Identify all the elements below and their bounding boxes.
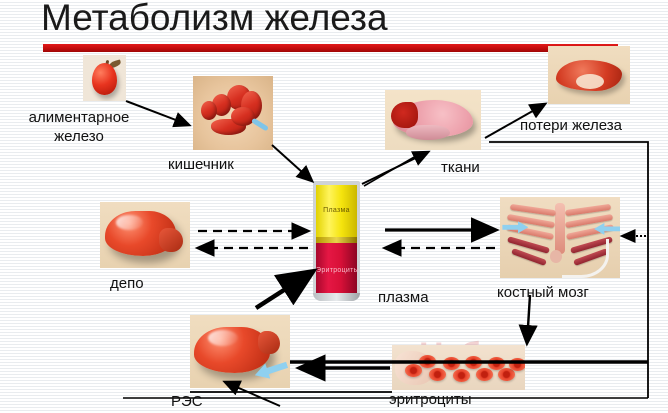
label-alimentary-iron-line1: алиментарное (29, 109, 130, 126)
red-blood-cell (476, 368, 493, 381)
tube-erythrocyte-layer: Эритроциты (316, 243, 357, 295)
red-blood-cell (419, 355, 436, 368)
label-res: РЭС (171, 392, 203, 411)
brain-illustration (385, 90, 481, 150)
label-alimentary-iron: алиментарное железо (14, 108, 144, 146)
res-gloss-icon (208, 330, 238, 346)
intestine-loop (231, 107, 255, 126)
arrow-plasma-to-tissues (362, 152, 428, 184)
spleen-liver-image (190, 315, 290, 388)
xiphoid-icon (550, 250, 562, 263)
red-blood-cell (429, 368, 446, 381)
tube-plasma-layer: Плазма (316, 185, 357, 237)
red-blood-cell (453, 369, 470, 382)
label-depot: депо (110, 274, 144, 293)
title-underline-bar (43, 44, 618, 52)
arrow-intestine-to-plasma (272, 145, 312, 181)
arrow-bone-marrow-to-erythrocytes (527, 295, 530, 343)
red-blood-cell (443, 357, 460, 370)
iron-loss-highlight-icon (576, 74, 604, 89)
ribs-illustration (500, 197, 620, 278)
apple-illustration (83, 55, 126, 101)
probe-icon (251, 118, 269, 132)
label-erythrocytes: эритроциты (389, 390, 472, 409)
tube-plasma-label: Плазма (316, 207, 357, 214)
brain-image (385, 90, 481, 150)
liver-gloss-icon (116, 215, 143, 230)
iron-loss-image (548, 46, 630, 104)
intestine-loop (201, 101, 217, 120)
intestine-image (193, 76, 273, 150)
label-plasma: плазма (378, 288, 429, 307)
test-tube-image: Плазма Эритроциты (313, 181, 360, 301)
apple-body-icon (92, 63, 117, 94)
brain-cerebellum-icon (406, 125, 450, 141)
label-bone-marrow: костный мозг (497, 283, 589, 302)
intestine-illustration (193, 76, 273, 150)
tube-base (313, 293, 360, 301)
brain-frontal-lobe-icon (391, 102, 418, 128)
liver-image (100, 202, 190, 268)
tube-erythrocyte-label: Эритроциты (316, 267, 357, 274)
res-lobe-icon (258, 331, 280, 354)
red-blood-cell (465, 356, 482, 369)
marrow-outline-icon (562, 239, 608, 278)
arrow-plasma-to-tissues-lower (364, 156, 416, 186)
ribs-image (500, 197, 620, 278)
rib-bone (509, 204, 555, 216)
red-blood-cell (509, 358, 525, 371)
label-intestine: кишечник (168, 155, 234, 174)
erythrocytes-illustration (392, 345, 525, 390)
label-tissues: ткани (441, 158, 480, 177)
page-title: Метаболизм железа (41, 0, 388, 40)
erythrocytes-image (392, 345, 525, 390)
label-iron-loss: потери железа (520, 116, 622, 135)
rib-bone (565, 204, 611, 216)
res-illustration (190, 315, 290, 388)
label-alimentary-iron-line2: железо (54, 128, 104, 145)
iron-loss-illustration (548, 46, 630, 104)
apple-image (83, 55, 126, 101)
liver-illustration (100, 202, 190, 268)
liver-lobe-icon (159, 228, 182, 252)
diagram-canvas: Метаболизм железа Неб Медици (0, 0, 668, 413)
arrow-res-to-plasma (256, 272, 312, 308)
